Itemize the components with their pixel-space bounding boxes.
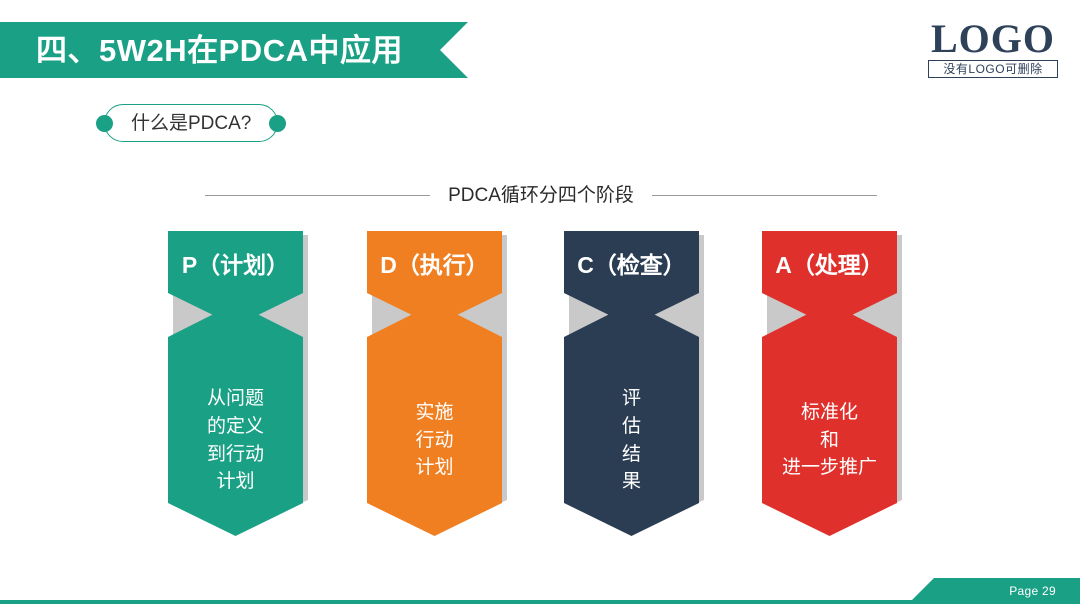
stage-body-label: 标准化 和 进一步推广 [782, 399, 877, 482]
stage-head-label: C（检查） [577, 254, 686, 277]
logo-wordmark: LOGO [928, 20, 1058, 58]
pill-dot-right-icon [269, 115, 286, 132]
stage-body-label: 实施 行动 计划 [415, 399, 453, 482]
stage-banner-do: D（执行） 实施 行动 计划 [367, 231, 502, 536]
footer-page-tab: Page 29 [908, 578, 1080, 604]
stage-banner-plan: P（计划） 从问题 的定义 到行动 计划 [168, 231, 303, 536]
logo: LOGO 没有LOGO可删除 [928, 20, 1058, 78]
stage-body: 评 估 结 果 [564, 303, 699, 536]
stage-body-label: 从问题 的定义 到行动 计划 [207, 385, 264, 495]
stage-banner-check: C（检查） 评 估 结 果 [564, 231, 699, 536]
subtitle-label: 什么是PDCA? [131, 114, 251, 133]
divider-label: PDCA循环分四个阶段 [448, 186, 634, 205]
pill-dot-left-icon [96, 115, 113, 132]
page-title: 四、5W2H在PDCA中应用 [36, 35, 403, 66]
page-number: Page 29 [1009, 585, 1056, 597]
section-divider: PDCA循环分四个阶段 [205, 181, 877, 209]
stage-banner-act: A（处理） 标准化 和 进一步推广 [762, 231, 897, 536]
pdca-stage-group: P（计划） 从问题 的定义 到行动 计划 D（执行） 实施 行动 计划 C（检查… [168, 231, 958, 541]
stage-body-label: 评 估 结 果 [622, 385, 641, 495]
stage-head-label: P（计划） [182, 254, 289, 277]
stage-body: 从问题 的定义 到行动 计划 [168, 303, 303, 536]
stage-body: 实施 行动 计划 [367, 303, 502, 536]
subtitle-pill-group: 什么是PDCA? [96, 104, 286, 142]
divider-line-left [205, 195, 430, 196]
stage-head-label: A（处理） [775, 254, 884, 277]
stage-head-label: D（执行） [380, 254, 489, 277]
title-banner: 四、5W2H在PDCA中应用 [0, 22, 468, 78]
divider-line-right [652, 195, 877, 196]
slide-canvas: 四、5W2H在PDCA中应用 LOGO 没有LOGO可删除 什么是PDCA? P… [0, 0, 1080, 608]
subtitle-pill: 什么是PDCA? [104, 104, 278, 142]
stage-body: 标准化 和 进一步推广 [762, 303, 897, 536]
logo-note: 没有LOGO可删除 [928, 60, 1058, 78]
